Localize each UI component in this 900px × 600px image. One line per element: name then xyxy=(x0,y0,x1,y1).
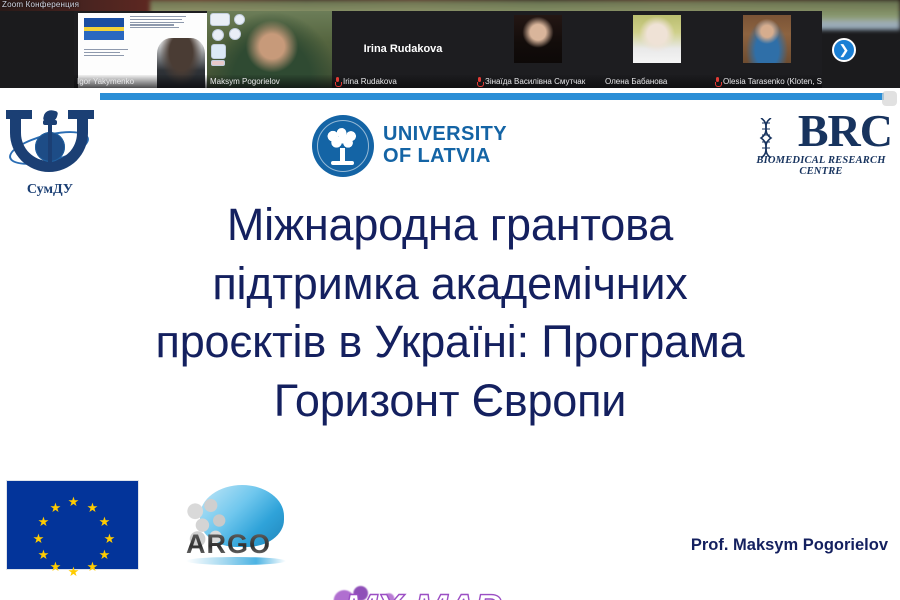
participant-name-text: Olesia Tarasenko (Kloten, Swi... xyxy=(723,77,822,86)
participant-name-label: Olesia Tarasenko (Kloten, Swi... xyxy=(712,75,822,88)
eu-star-icon: ★ xyxy=(32,532,45,545)
slide-thumb-flag xyxy=(84,18,124,40)
zoom-window-title: Zoom Конференция xyxy=(2,0,79,9)
shared-slide: СумДУ UNIVERSITY OF LATVIA BRC BIOMEDICA… xyxy=(0,88,900,600)
university-of-latvia-logo: UNIVERSITY OF LATVIA xyxy=(312,110,512,182)
title-line-3: проєктів в Україні: Програма xyxy=(60,313,840,372)
background-logos xyxy=(210,13,256,65)
mx-map-wordmark: MX-MAP xyxy=(344,587,500,600)
participant-name-label: Maksym Pogorielov xyxy=(207,75,332,88)
eu-star-icon: ★ xyxy=(67,565,80,578)
eu-star-icon: ★ xyxy=(86,501,99,514)
eu-star-icon: ★ xyxy=(86,560,99,573)
participant-tile[interactable]: Olesia Tarasenko (Kloten, Swi... xyxy=(712,11,822,88)
slide-thumb-text-2 xyxy=(84,49,128,57)
argo-swoosh-shape xyxy=(186,557,286,565)
participant-name-label: Олена Бабанова xyxy=(602,75,712,88)
participant-name-label: Зінаїда Василівна Смутчак xyxy=(474,75,602,88)
next-participants-button[interactable]: ❯ xyxy=(832,38,856,62)
letter-u-serif-right xyxy=(68,110,94,119)
participant-name-label: Irina Rudakova xyxy=(332,75,474,88)
participant-tile[interactable]: Олена Бабанова xyxy=(602,11,712,88)
avatar xyxy=(514,15,562,63)
title-line-4: Горизонт Європи xyxy=(60,372,840,431)
participant-name-label: Igor Yakymenko xyxy=(74,75,207,88)
argo-wordmark: ARGO xyxy=(186,529,290,560)
title-line-2: підтримка академічних xyxy=(60,255,840,314)
ul-line-2: OF LATVIA xyxy=(383,146,507,168)
eu-star-icon: ★ xyxy=(98,548,111,561)
eu-star-icon: ★ xyxy=(103,532,116,545)
zoom-floating-control-button[interactable] xyxy=(882,91,897,106)
title-line-1: Міжнародна грантова xyxy=(60,196,840,255)
ul-wordmark: UNIVERSITY OF LATVIA xyxy=(383,124,507,167)
eu-star-icon: ★ xyxy=(49,560,62,573)
avatar xyxy=(743,15,791,63)
participant-name-text: Maksym Pogorielov xyxy=(210,77,280,86)
avatar xyxy=(633,15,681,63)
brc-subtitle: BIOMEDICAL RESEARCH CENTRE xyxy=(746,155,896,177)
eu-star-icon: ★ xyxy=(67,495,80,508)
participant-display-name: Irina Rudakova xyxy=(332,42,474,54)
participant-tile[interactable]: Igor Yakymenko xyxy=(74,11,207,88)
participant-tile[interactable]: Maksym Pogorielov xyxy=(207,11,332,88)
participant-tile[interactable]: Зінаїда Василівна Смутчак xyxy=(474,11,602,88)
mic-muted-icon xyxy=(335,77,340,86)
letter-u-serif-left xyxy=(6,110,32,119)
ul-line-1: UNIVERSITY xyxy=(383,124,507,146)
argo-logo: ARGO xyxy=(176,483,291,568)
tree-icon xyxy=(323,126,363,166)
mic-muted-icon xyxy=(477,77,482,86)
accent-bar xyxy=(100,93,884,100)
participant-name-text: Irina Rudakova xyxy=(343,77,397,86)
participant-name-text: Igor Yakymenko xyxy=(77,77,134,86)
sumdu-logo: СумДУ xyxy=(4,104,96,196)
mic-muted-icon xyxy=(715,77,720,86)
european-union-flag: ★ ★ ★ ★ ★ ★ ★ ★ ★ ★ ★ ★ xyxy=(6,480,139,570)
eu-star-icon: ★ xyxy=(37,548,50,561)
presenter-name: Prof. Maksym Pogorielov xyxy=(691,536,888,555)
eu-star-icon: ★ xyxy=(37,515,50,528)
zoom-participant-strip: Zoom Конференция xyxy=(0,0,900,88)
torch-icon xyxy=(42,110,58,136)
participant-tile[interactable]: Irina Rudakova Irina Rudakova xyxy=(332,11,474,88)
eu-star-icon: ★ xyxy=(49,501,62,514)
participant-name-text: Зінаїда Василівна Смутчак xyxy=(485,77,585,86)
dna-helix-icon xyxy=(758,118,774,158)
brc-logo: BRC BIOMEDICAL RESEARCH CENTRE xyxy=(746,108,896,178)
slide-thumb-text xyxy=(130,16,186,30)
eu-star-icon: ★ xyxy=(98,515,111,528)
slide-title: Міжнародна грантова підтримка академічни… xyxy=(60,196,840,430)
ul-seal-icon xyxy=(312,115,374,177)
participant-tile-row: Igor Yakymenko Maksym Pogorielov Ir xyxy=(0,11,900,88)
chevron-right-icon: ❯ xyxy=(839,43,850,56)
participant-name-text: Олена Бабанова xyxy=(605,77,667,86)
mx-map-logo: MX-MAP xyxy=(330,581,530,600)
